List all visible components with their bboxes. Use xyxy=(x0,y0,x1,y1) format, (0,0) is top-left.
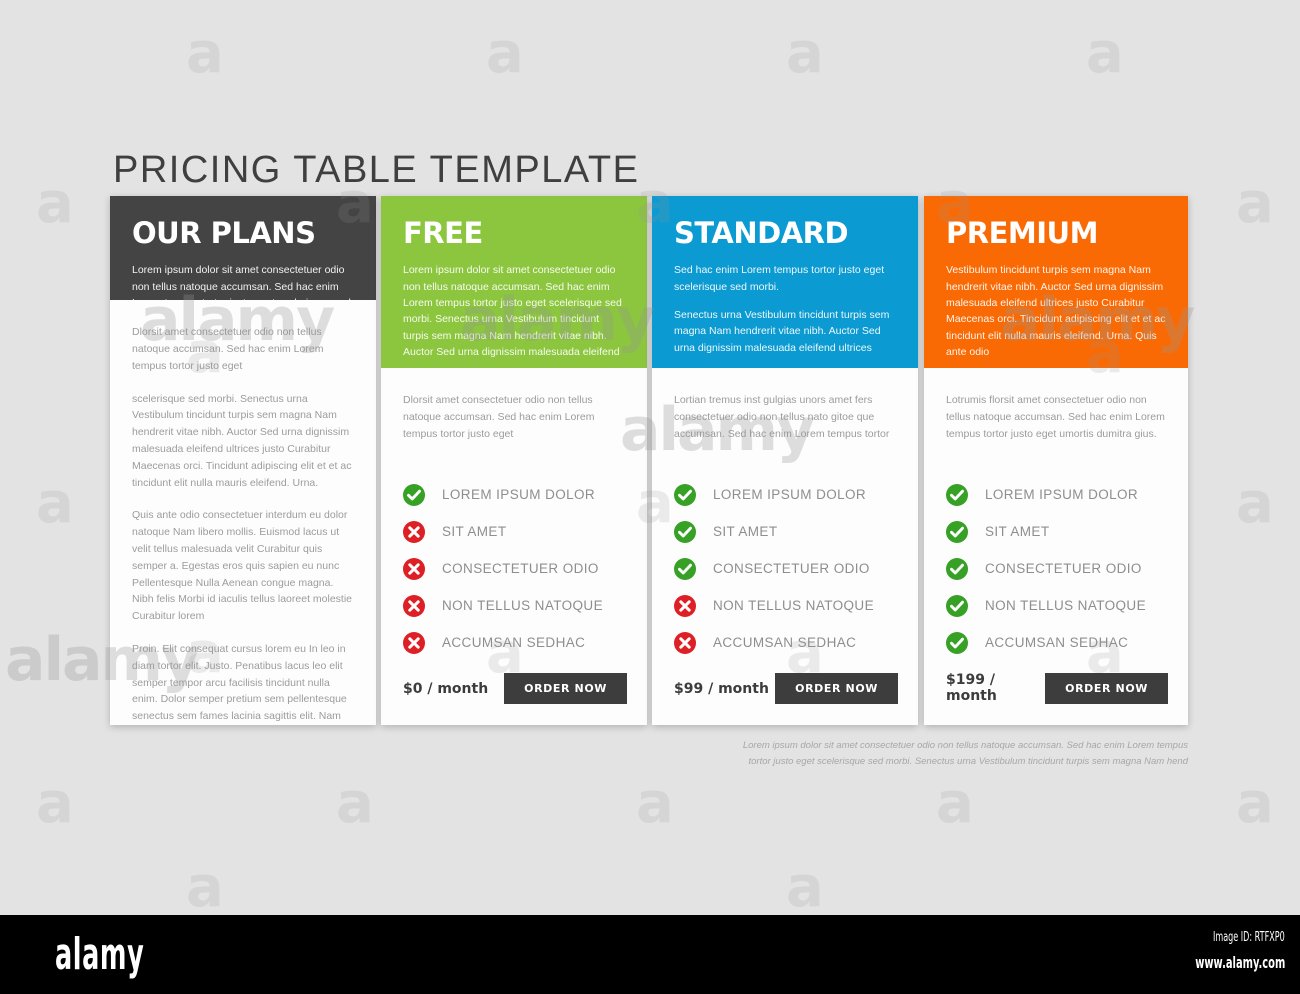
list-item: SIT AMET xyxy=(403,513,625,550)
column-title: STANDARD xyxy=(674,218,896,248)
column-title: PREMIUM xyxy=(946,218,1166,248)
check-circle-icon xyxy=(946,558,968,580)
watermark-letter-icon: a xyxy=(786,860,824,915)
check-circle-icon xyxy=(946,595,968,617)
cross-circle-icon xyxy=(403,632,425,654)
column-title: FREE xyxy=(403,218,625,248)
body-paragraph: Dlorsit amet consectetuer odio non tellu… xyxy=(132,324,354,374)
body-paragraph: Lortian tremus inst gulgias unors amet f… xyxy=(674,392,896,442)
cross-circle-icon xyxy=(674,595,696,617)
watermark-letter-icon: a xyxy=(636,776,674,832)
footer-note: Lorem ipsum dolor sit amet consectetuer … xyxy=(728,738,1188,770)
feature-label: LOREM IPSUM DOLOR xyxy=(442,487,595,502)
feature-list: LOREM IPSUM DOLOR SIT AMET CONSECTETUER … xyxy=(403,476,625,661)
feature-label: LOREM IPSUM DOLOR xyxy=(985,487,1138,502)
feature-label: SIT AMET xyxy=(713,524,777,539)
column-header: OUR PLANS Lorem ipsum dolor sit amet con… xyxy=(110,196,376,300)
body-paragraph: Quis ante odio consectetuer interdum eu … xyxy=(132,507,354,625)
list-item: CONSECTETUER ODIO xyxy=(946,550,1166,587)
feature-label: NON TELLUS NATOQUE xyxy=(442,598,603,613)
order-now-button[interactable]: ORDER NOW xyxy=(775,673,898,704)
feature-label: SIT AMET xyxy=(442,524,506,539)
feature-label: CONSECTETUER ODIO xyxy=(985,561,1142,576)
check-circle-icon xyxy=(674,484,696,506)
column-body: Lortian tremus inst gulgias unors amet f… xyxy=(652,368,918,725)
list-item: NON TELLUS NATOQUE xyxy=(674,587,896,624)
check-circle-icon xyxy=(674,521,696,543)
list-item: ACCUMSAN SEDHAC xyxy=(403,624,625,661)
watermark-letter-icon: a xyxy=(36,176,74,232)
pricing-column-premium: PREMIUM Vestibulum tincidunt turpis sem … xyxy=(924,196,1188,725)
page-title: PRICING TABLE TEMPLATE xyxy=(113,149,639,192)
list-item: LOREM IPSUM DOLOR xyxy=(403,476,625,513)
alamy-logo: alamy xyxy=(55,933,144,977)
feature-label: CONSECTETUER ODIO xyxy=(442,561,599,576)
price-row: $199 / month ORDER NOW xyxy=(946,672,1168,704)
list-item: CONSECTETUER ODIO xyxy=(403,550,625,587)
feature-list: LOREM IPSUM DOLOR SIT AMET CONSECTETUER … xyxy=(946,476,1166,661)
column-header-text: Sed hac enim Lorem tempus tortor justo e… xyxy=(674,262,896,295)
price-row: $0 / month ORDER NOW xyxy=(403,673,627,704)
column-header: FREE Lorem ipsum dolor sit amet consecte… xyxy=(381,196,647,368)
pricing-column-free: FREE Lorem ipsum dolor sit amet consecte… xyxy=(381,196,647,725)
pricing-table: OUR PLANS Lorem ipsum dolor sit amet con… xyxy=(110,196,1188,725)
list-item: SIT AMET xyxy=(674,513,896,550)
cross-circle-icon xyxy=(403,595,425,617)
list-item: CONSECTETUER ODIO xyxy=(674,550,896,587)
cross-circle-icon xyxy=(403,558,425,580)
column-body: Lotrumis florsit amet consectetuer odio … xyxy=(924,368,1188,725)
body-paragraph: Dlorsit amet consectetuer odio non tellu… xyxy=(403,392,625,442)
column-header-text: Senectus urna Vestibulum tincidunt turpi… xyxy=(674,307,896,356)
watermark-letter-icon: a xyxy=(336,776,374,832)
cross-circle-icon xyxy=(403,521,425,543)
check-circle-icon xyxy=(403,484,425,506)
watermark-letter-icon: a xyxy=(486,26,524,82)
column-header-text: Vestibulum tincidunt turpis sem magna Na… xyxy=(946,262,1166,360)
price-label: $99 / month xyxy=(674,681,769,697)
feature-label: ACCUMSAN SEDHAC xyxy=(985,635,1128,650)
watermark-letter-icon: a xyxy=(36,776,74,832)
column-header: PREMIUM Vestibulum tincidunt turpis sem … xyxy=(924,196,1188,368)
feature-label: CONSECTETUER ODIO xyxy=(713,561,870,576)
body-paragraph: scelerisque sed morbi. Senectus urna Ves… xyxy=(132,391,354,492)
list-item: ACCUMSAN SEDHAC xyxy=(674,624,896,661)
column-body: Dlorsit amet consectetuer odio non tellu… xyxy=(110,300,376,725)
feature-list: LOREM IPSUM DOLOR SIT AMET CONSECTETUER … xyxy=(674,476,896,661)
watermark-letter-icon: a xyxy=(786,26,824,82)
watermark-letter-icon: a xyxy=(1236,476,1274,532)
feature-label: SIT AMET xyxy=(985,524,1049,539)
check-circle-icon xyxy=(674,558,696,580)
price-label: $0 / month xyxy=(403,681,488,697)
check-circle-icon xyxy=(946,484,968,506)
list-item: SIT AMET xyxy=(946,513,1166,550)
order-now-button[interactable]: ORDER NOW xyxy=(1045,673,1168,704)
watermark-letter-icon: a xyxy=(1236,176,1274,232)
price-row: $99 / month ORDER NOW xyxy=(674,673,898,704)
watermark-letter-icon: a xyxy=(1236,776,1274,832)
pricing-column-our-plans: OUR PLANS Lorem ipsum dolor sit amet con… xyxy=(110,196,376,725)
watermark-letter-icon: a xyxy=(186,860,224,915)
body-paragraph: Proin. Elit consequat cursus lorem eu In… xyxy=(132,641,354,725)
check-circle-icon xyxy=(946,632,968,654)
feature-label: ACCUMSAN SEDHAC xyxy=(713,635,856,650)
feature-label: NON TELLUS NATOQUE xyxy=(713,598,874,613)
pricing-column-standard: STANDARD Sed hac enim Lorem tempus torto… xyxy=(652,196,918,725)
check-circle-icon xyxy=(946,521,968,543)
feature-label: LOREM IPSUM DOLOR xyxy=(713,487,866,502)
order-now-button[interactable]: ORDER NOW xyxy=(504,673,627,704)
list-item: ACCUMSAN SEDHAC xyxy=(946,624,1166,661)
column-header-text: Lorem ipsum dolor sit amet consectetuer … xyxy=(403,262,625,360)
watermark-letter-icon: a xyxy=(186,26,224,82)
alamy-url-label: www.alamy.com xyxy=(1195,953,1285,972)
image-id-label: Image ID: RTFXP0 xyxy=(1213,930,1285,945)
price-label: $199 / month xyxy=(946,672,1045,704)
body-paragraph: Lotrumis florsit amet consectetuer odio … xyxy=(946,392,1166,442)
list-item: NON TELLUS NATOQUE xyxy=(946,587,1166,624)
column-header: STANDARD Sed hac enim Lorem tempus torto… xyxy=(652,196,918,368)
column-body: Dlorsit amet consectetuer odio non tellu… xyxy=(381,368,647,725)
watermark-letter-icon: a xyxy=(1086,26,1124,82)
column-header-text: Lorem ipsum dolor sit amet consectetuer … xyxy=(132,262,354,300)
watermark-letter-icon: a xyxy=(936,776,974,832)
column-title: OUR PLANS xyxy=(132,218,354,248)
list-item: NON TELLUS NATOQUE xyxy=(403,587,625,624)
list-item: LOREM IPSUM DOLOR xyxy=(674,476,896,513)
feature-label: ACCUMSAN SEDHAC xyxy=(442,635,585,650)
feature-label: NON TELLUS NATOQUE xyxy=(985,598,1146,613)
stock-photo-footer-bar: alamy Image ID: RTFXP0 www.alamy.com xyxy=(0,915,1300,994)
list-item: LOREM IPSUM DOLOR xyxy=(946,476,1166,513)
cross-circle-icon xyxy=(674,632,696,654)
watermark-letter-icon: a xyxy=(36,476,74,532)
